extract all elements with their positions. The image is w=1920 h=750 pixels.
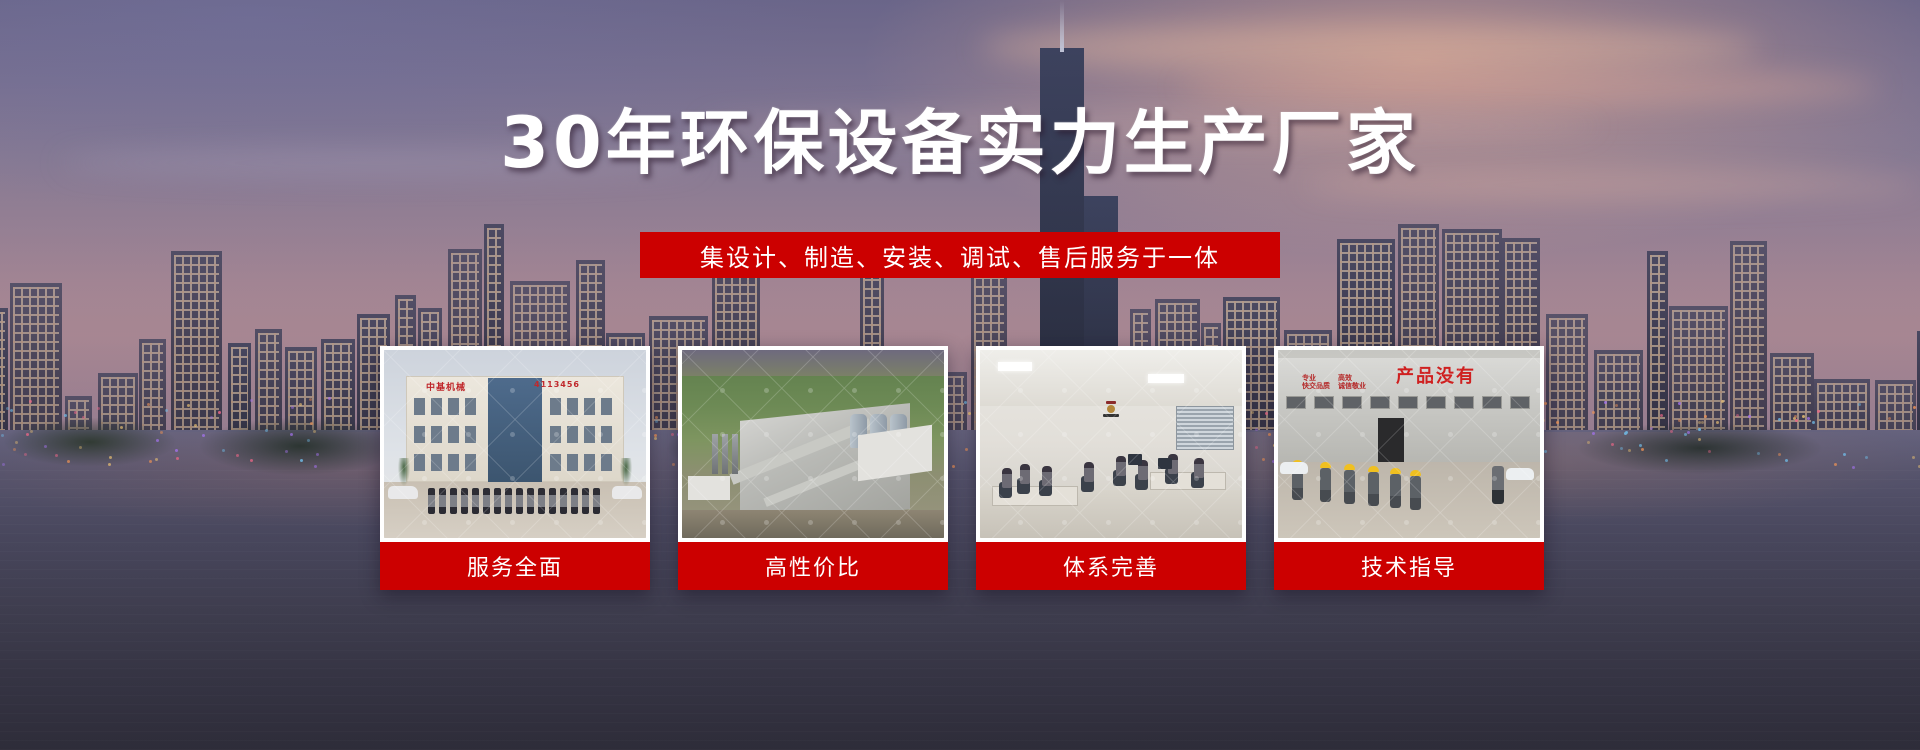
staff-member [538,488,545,514]
desktop-monitor [1128,454,1142,465]
courtyard-tree [398,458,410,486]
staff-member [560,488,567,514]
staff-member [472,488,479,514]
building-window [550,426,561,443]
staff-member [527,488,534,514]
aerial-production-plant-photo [682,350,944,538]
courtyard-ground [384,482,646,538]
plant-yard [682,510,944,538]
chimney-stack [722,434,728,474]
feature-card[interactable]: 高性价比 [678,346,948,590]
factory-window [1370,396,1390,409]
feature-card[interactable]: 中基机械 4113456 服务全面 [380,346,650,590]
factory-window [1510,396,1530,409]
chimney-stack [732,434,738,474]
building-window [465,454,476,471]
worker [1320,468,1331,502]
building-window [431,426,442,443]
office-ceiling [980,350,1242,406]
office-worker [1002,468,1012,488]
factory-wall-subslogan: 高效诚信敬业 [1338,374,1366,390]
worker [1390,474,1401,508]
parked-car [388,486,418,499]
chimney-stack [712,434,718,474]
feature-card-caption: 服务全面 [380,542,650,590]
office-interior-staff-photo [980,350,1242,538]
office-worker [1084,462,1094,482]
hard-hat-icon [1390,468,1401,474]
feature-card-caption: 技术指导 [1274,542,1544,590]
office-worker [1042,466,1052,486]
staff-member [549,488,556,514]
worker [1410,476,1421,510]
hero-banner: 30年环保设备实力生产厂家 集设计、制造、安装、调试、售后服务于一体 中基机械 … [0,0,1920,750]
banner-subtitle-text: 集设计、制造、安装、调试、售后服务于一体 [700,238,1220,273]
courtyard-tree [620,458,632,486]
banner-content: 30年环保设备实力生产厂家 集设计、制造、安装、调试、售后服务于一体 中基机械 … [0,0,1920,750]
factory-window [1286,396,1306,409]
banner-headline: 30年环保设备实力生产厂家 [0,108,1920,178]
feature-card-caption: 体系完善 [976,542,1246,590]
building-window [601,426,612,443]
building-glass-core [488,378,542,482]
ceiling-light-panel [1148,374,1184,383]
building-window [414,426,425,443]
building-window [448,398,459,415]
feature-card[interactable]: 产品没有 专业快交品质 高效诚信敬业 技术指导 [1274,346,1544,590]
parked-car [1506,468,1534,480]
building-window [431,398,442,415]
staff-member [516,488,523,514]
building-window [584,398,595,415]
office-worker [1194,458,1204,478]
parked-car [1280,462,1308,474]
office-worker [1020,464,1030,484]
building-window [567,426,578,443]
building-window [584,426,595,443]
banner-subtitle-bar: 集设计、制造、安装、调试、售后服务于一体 [640,232,1280,278]
office-desk [1150,472,1226,490]
feature-card-list: 中基机械 4113456 服务全面 [380,346,1544,590]
staff-member [582,488,589,514]
hard-hat-icon [1410,470,1421,476]
staff-member [571,488,578,514]
office-worker [1116,456,1126,476]
building-window [601,398,612,415]
building-window [414,454,425,471]
factory-wall-slogan: 产品没有 [1396,362,1476,388]
company-office-building-photo: 中基机械 4113456 [384,350,646,538]
staff-member [593,488,600,514]
staff-member [494,488,501,514]
supervisor [1492,466,1504,504]
building-window [465,398,476,415]
wall-logo-decal [1098,400,1124,420]
hard-hat-icon [1320,462,1331,468]
staff-member [461,488,468,514]
building-window [601,454,612,471]
ceiling-light-panel [998,362,1032,371]
building-window [567,398,578,415]
building-window [465,426,476,443]
staff-member [439,488,446,514]
factory-window [1482,396,1502,409]
window-blinds [1176,406,1234,450]
building-window [550,398,561,415]
factory-window [1426,396,1446,409]
building-window [550,454,561,471]
building-phone-text: 4113456 [534,380,580,389]
worker [1368,472,1379,506]
distant-horizon [682,350,944,376]
factory-window [1398,396,1418,409]
factory-door [1378,418,1404,462]
staff-member [428,488,435,514]
worker [1344,470,1355,504]
feature-card[interactable]: 体系完善 [976,346,1246,590]
hard-hat-icon [1344,464,1355,470]
factory-wall-subslogan: 专业快交品质 [1302,374,1330,390]
building-sign-text: 中基机械 [426,380,466,393]
building-window [448,454,459,471]
desktop-monitor [1158,458,1172,469]
staff-member [505,488,512,514]
factory-window [1314,396,1334,409]
building-window [414,398,425,415]
factory-window [1342,396,1362,409]
staff-member [450,488,457,514]
building-window [584,454,595,471]
workshop-workers-photo: 产品没有 专业快交品质 高效诚信敬业 [1278,350,1540,538]
building-window [431,454,442,471]
parked-car [612,486,642,499]
feature-card-caption: 高性价比 [678,542,948,590]
building-window [448,426,459,443]
warehouse-shed [688,476,730,500]
building-window [567,454,578,471]
factory-window [1454,396,1474,409]
hard-hat-icon [1368,466,1379,472]
staff-member [483,488,490,514]
